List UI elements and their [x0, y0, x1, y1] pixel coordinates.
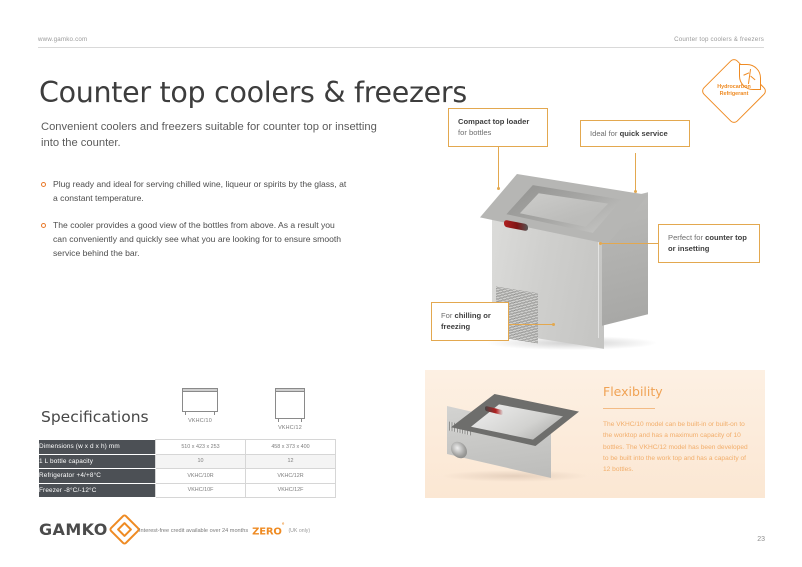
leader-line-compact [498, 141, 499, 188]
bullet-dot-icon [41, 219, 53, 261]
product-icon-tall [245, 388, 335, 422]
feature-list: Plug ready and ideal for serving chilled… [41, 178, 351, 274]
flexibility-text-block: Flexibility The VKHC/10 model can be bui… [603, 384, 753, 476]
callout-compact-tail: for bottles [458, 128, 491, 137]
flexibility-divider [603, 408, 655, 409]
zero-logo: ZERO° [252, 525, 284, 537]
credit-offer: Interest-free credit available over 24 m… [139, 525, 310, 537]
callout-chilling-freezing: For chilling or freezing [431, 302, 509, 341]
brochure-page: www.gamko.com Counter top coolers & free… [0, 0, 802, 567]
row-value: VKHC/12R [246, 469, 336, 484]
row-value: 458 x 373 x 400 [246, 440, 336, 455]
callout-chilling-lead: For [441, 311, 455, 320]
credit-uk-note: (UK only) [288, 528, 310, 534]
callout-counter-top-insetting: Perfect for counter top or insetting [658, 224, 760, 263]
list-item: Plug ready and ideal for serving chilled… [41, 178, 351, 206]
callout-quick-tail: quick service [620, 129, 668, 138]
row-label: Refrigerator +4/+8°C [39, 469, 156, 484]
list-item-text: Plug ready and ideal for serving chilled… [53, 178, 351, 206]
list-item: The cooler provides a good view of the b… [41, 219, 351, 261]
callout-compact-top-loader: Compact top loader for bottles [448, 108, 548, 147]
page-subtitle: Convenient coolers and freezers suitable… [41, 119, 386, 151]
flexibility-title: Flexibility [603, 384, 753, 399]
badge-label: Hydrocarbon Refrigerant [708, 84, 760, 98]
badge-label-line1: Hydrocarbon [708, 84, 760, 91]
page-title: Counter top coolers & freezers [39, 78, 467, 108]
zero-word: ZERO [252, 526, 281, 537]
product-icon-wide [155, 388, 245, 415]
credit-text: Interest-free credit available over 24 m… [139, 528, 248, 534]
specifications-column-headers: VKHC/10 VKHC/12 [155, 388, 335, 431]
row-label: 1 L bottle capacity [39, 454, 156, 469]
table-row: Freezer -8°C/-12°C VKHC/10F VKHC/12F [39, 483, 336, 498]
logo-diamond-icon [108, 513, 141, 546]
badge-label-line2: Refrigerant [708, 91, 760, 98]
row-value: 10 [156, 454, 246, 469]
table-row: 1 L bottle capacity 10 12 [39, 454, 336, 469]
page-header: www.gamko.com Counter top coolers & free… [38, 36, 764, 48]
row-value: 510 x 423 x 253 [156, 440, 246, 455]
flexibility-panel: Flexibility The VKHC/10 model can be bui… [425, 370, 765, 498]
leader-line-quick [635, 153, 636, 191]
row-value: VKHC/10R [156, 469, 246, 484]
callout-compact-lead: Compact top loader [458, 117, 529, 126]
row-label: Freezer -8°C/-12°C [39, 483, 156, 498]
row-label: Dimensions (w x d x h) mm [39, 440, 156, 455]
spec-column-header-1: VKHC/10 [155, 388, 245, 431]
flexibility-body: The VKHC/10 model can be built-in or bui… [603, 419, 753, 476]
table-row: Refrigerator +4/+8°C VKHC/10R VKHC/12R [39, 469, 336, 484]
hydrocarbon-refrigerant-badge: Hydrocarbon Refrigerant [703, 60, 769, 122]
inset-product-photo [433, 384, 593, 484]
page-number: 23 [757, 536, 765, 543]
leader-dot-compact [497, 187, 500, 190]
header-section: Counter top coolers & freezers [674, 36, 764, 43]
logo-wordmark: GAMKO [39, 520, 108, 539]
header-website[interactable]: www.gamko.com [38, 36, 87, 43]
leader-line-chilling [509, 324, 554, 325]
row-value: VKHC/12F [246, 483, 336, 498]
leader-dot-perfect [599, 242, 602, 245]
header-divider [38, 47, 764, 48]
spec-column-header-2: VKHC/12 [245, 388, 335, 431]
specifications-table: Dimensions (w x d x h) mm 510 x 423 x 25… [39, 439, 336, 498]
page-footer: GAMKO Interest-free credit available ove… [39, 518, 765, 552]
list-item-text: The cooler provides a good view of the b… [53, 219, 351, 261]
specifications-heading: Specifications [41, 408, 149, 426]
inset-shadow [441, 470, 589, 482]
leader-dot-quick [634, 190, 637, 193]
callout-quick-lead: Ideal for [590, 129, 620, 138]
leader-dot-chilling [552, 323, 555, 326]
table-row: Dimensions (w x d x h) mm 510 x 423 x 25… [39, 440, 336, 455]
row-value: 12 [246, 454, 336, 469]
callout-quick-service: Ideal for quick service [580, 120, 690, 147]
spec-column-label: VKHC/12 [245, 425, 335, 431]
callout-perfect-lead: Perfect for [668, 233, 705, 242]
leader-line-perfect [600, 243, 658, 244]
bullet-dot-icon [41, 178, 53, 206]
row-value: VKHC/10F [156, 483, 246, 498]
spec-column-label: VKHC/10 [155, 418, 245, 424]
